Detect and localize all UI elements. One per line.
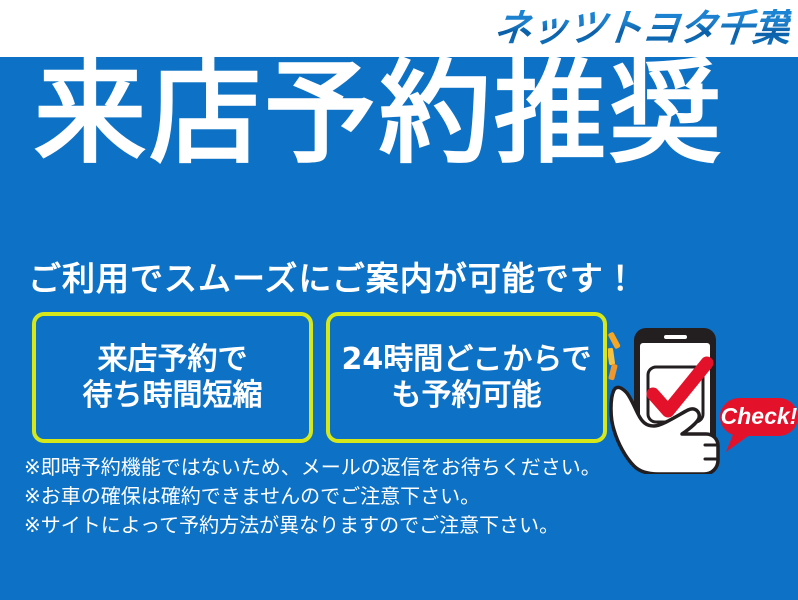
feature-box-line1: 24時間どこからで (342, 342, 592, 377)
feature-box-line1: 来店予約で (98, 342, 248, 377)
disclaimer-line: ※サイトによって予約方法が異なりますのでご注意下さい。 (24, 511, 601, 540)
subtitle-text: ご利用でスムーズにご案内が可能です！ (28, 262, 638, 295)
disclaimer-line: ※お車の確保は確約できませんのでご注意下さい。 (24, 482, 601, 511)
disclaimer-list: ※即時予約機能ではないため、メールの返信をお待ちください。 ※お車の確保は確約で… (24, 453, 601, 541)
feature-box-line2: も予約可能 (392, 378, 542, 413)
check-bubble-label: Check! (721, 403, 798, 429)
check-bubble: Check! (720, 398, 798, 452)
page-title: 来店予約推奨 (34, 58, 774, 170)
disclaimer-line: ※即時予約機能ではないため、メールの返信をお待ちください。 (24, 453, 601, 482)
brand-logo: ネッツトヨタ千葉 (494, 2, 790, 54)
feature-box-wait-time: 来店予約で 待ち時間短縮 (32, 312, 313, 443)
smartphone-illustration: Check! (608, 326, 798, 474)
feature-box-group: 来店予約で 待ち時間短縮 24時間どこからで も予約可能 (32, 312, 607, 443)
promo-banner: ネッツトヨタ千葉 来店予約推奨 ご利用でスムーズにご案内が可能です！ 来店予約で… (0, 0, 798, 600)
feature-box-line2: 待ち時間短縮 (83, 378, 263, 413)
feature-box-24h: 24時間どこからで も予約可能 (326, 312, 607, 443)
action-lines-icon (608, 332, 621, 381)
brand-logo-text: ネッツトヨタ千葉 (492, 9, 792, 47)
